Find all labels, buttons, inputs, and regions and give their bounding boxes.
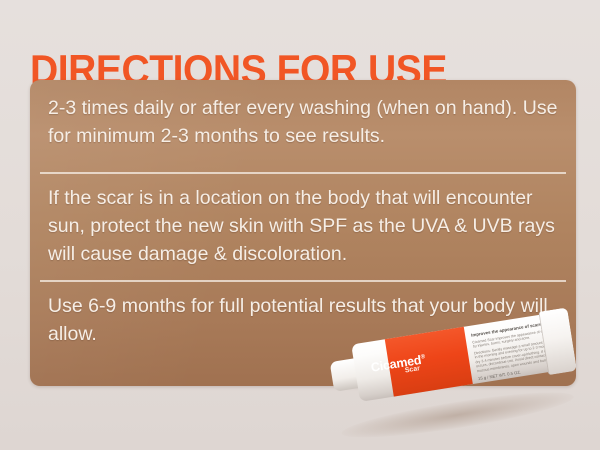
instruction-item-frequency: 2-3 times daily or after every washing (…: [30, 94, 576, 150]
instruction-text: 2-3 times daily or after every washing (…: [48, 97, 557, 147]
instruction-item-sun-protection: If the scar is in a location on the body…: [30, 184, 576, 268]
instruction-divider: [40, 280, 566, 282]
instruction-text: If the scar is in a location on the body…: [48, 187, 555, 265]
tube-shadow: [339, 384, 575, 446]
instructions-panel: 2-3 times daily or after every washing (…: [30, 80, 576, 386]
poster-canvas: DIRECTIONS FOR USE 2-3 times daily or af…: [0, 0, 600, 450]
instruction-text: Use 6-9 months for full potential result…: [48, 295, 548, 345]
instruction-divider: [40, 172, 566, 174]
instruction-item-duration: Use 6-9 months for full potential result…: [30, 292, 576, 348]
